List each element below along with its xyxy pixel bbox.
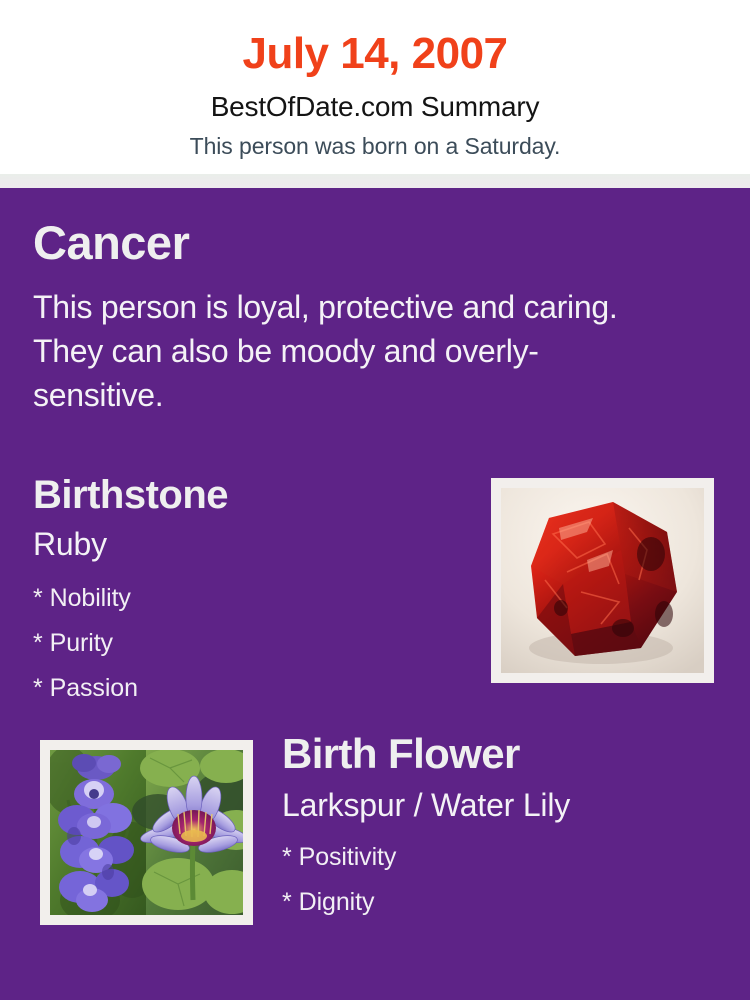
list-item-label: Dignity xyxy=(299,888,375,916)
list-item: *Dignity xyxy=(282,880,722,925)
site-summary-label: BestOfDate.com Summary xyxy=(0,76,750,121)
birthflower-heading: Birth Flower xyxy=(282,733,722,775)
zodiac-sign-title: Cancer xyxy=(33,219,189,266)
page-title: July 14, 2007 xyxy=(0,0,750,76)
bullet-star-icon: * xyxy=(282,843,292,871)
flower-illustration xyxy=(50,750,243,915)
list-item: *Positivity xyxy=(282,835,722,880)
bullet-star-icon: * xyxy=(33,674,43,702)
birthstone-trait-list: *Nobility *Purity *Passion xyxy=(33,576,463,711)
ruby-illustration xyxy=(501,488,704,673)
list-item-label: Nobility xyxy=(50,584,131,612)
born-day-note: This person was born on a Saturday. xyxy=(0,121,750,158)
bullet-star-icon: * xyxy=(282,888,292,916)
birthflower-name: Larkspur / Water Lily xyxy=(282,789,722,821)
birthstone-heading: Birthstone xyxy=(33,475,463,515)
list-item-label: Positivity xyxy=(299,843,397,871)
list-item: *Nobility xyxy=(33,576,463,621)
list-item-label: Purity xyxy=(50,629,113,657)
list-item: *Purity xyxy=(33,621,463,666)
birthflower-trait-list: *Positivity *Dignity xyxy=(282,835,722,925)
birthstone-name: Ruby xyxy=(33,528,463,560)
bullet-star-icon: * xyxy=(33,629,43,657)
zodiac-description: This person is loyal, protective and car… xyxy=(33,285,653,417)
birthstone-image-frame xyxy=(491,478,714,683)
list-item-label: Passion xyxy=(50,674,138,702)
content-body: Cancer This person is loyal, protective … xyxy=(0,188,750,1000)
ruby-gemstone-photo xyxy=(501,488,704,673)
birthflower-image-frame xyxy=(40,740,253,925)
header-divider xyxy=(0,174,750,188)
page-header: July 14, 2007 BestOfDate.com Summary Thi… xyxy=(0,0,750,174)
list-item: *Passion xyxy=(33,666,463,711)
summary-page: July 14, 2007 BestOfDate.com Summary Thi… xyxy=(0,0,750,1000)
birthflower-section: Birth Flower Larkspur / Water Lily *Posi… xyxy=(282,733,722,925)
bullet-star-icon: * xyxy=(33,584,43,612)
larkspur-waterlily-photo xyxy=(50,750,243,915)
birthstone-section: Birthstone Ruby *Nobility *Purity *Passi… xyxy=(33,475,463,711)
